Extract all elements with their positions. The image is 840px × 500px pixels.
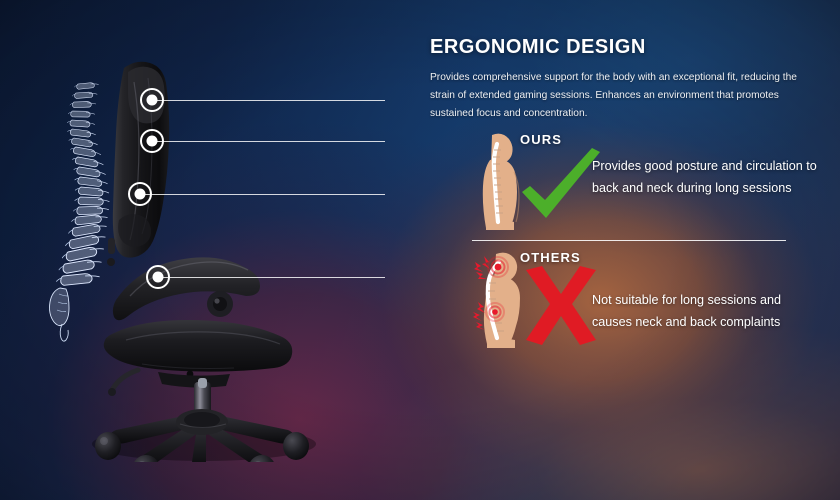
callout-line bbox=[152, 141, 385, 142]
callout-marker-dot[interactable] bbox=[140, 88, 164, 112]
callout-line bbox=[158, 277, 385, 278]
callout-line bbox=[140, 194, 385, 195]
block-heading-others: OTHERS bbox=[520, 250, 581, 265]
pain-rays-upper bbox=[474, 256, 490, 279]
comparison-block-others: OTHERS Not suitable for long sessions an… bbox=[430, 248, 830, 348]
callout-marker-dot[interactable] bbox=[128, 182, 152, 206]
pain-indicator-lumbar bbox=[486, 303, 504, 321]
section-divider bbox=[472, 240, 786, 241]
block-text-others: Not suitable for long sessions and cause… bbox=[592, 290, 824, 333]
pain-rays-lower bbox=[473, 302, 485, 330]
panel-header: ERGONOMIC DESIGN Provides comprehensive … bbox=[430, 36, 822, 123]
callout-marker-dot[interactable] bbox=[146, 265, 170, 289]
comparison-block-ours: OURS Provides good posture and circulati… bbox=[430, 130, 830, 230]
callout-line bbox=[152, 100, 385, 101]
page-title: ERGONOMIC DESIGN bbox=[430, 36, 822, 59]
pain-indicator-neck bbox=[488, 257, 508, 277]
infographic-canvas: Neck SupportShoulder RelaxedBack Support… bbox=[0, 0, 840, 500]
gaming-chair-illustration bbox=[72, 52, 332, 462]
block-text-ours: Provides good posture and circulation to… bbox=[592, 156, 824, 199]
block-heading-ours: OURS bbox=[520, 132, 562, 147]
panel-description: Provides comprehensive support for the b… bbox=[430, 69, 820, 123]
callout-marker-dot[interactable] bbox=[140, 129, 164, 153]
